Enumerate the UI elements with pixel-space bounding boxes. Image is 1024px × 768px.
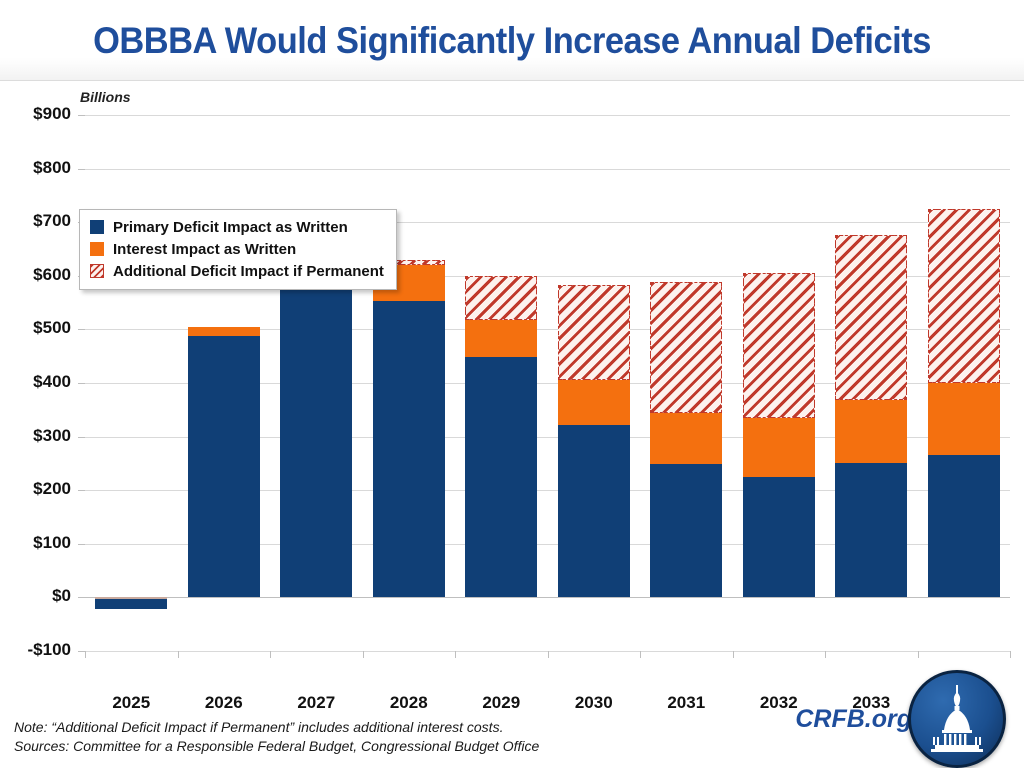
y-axis-tick-label: $400 — [9, 372, 71, 392]
square-swatch-icon — [90, 242, 104, 256]
bar-segment-interest — [650, 413, 722, 464]
x-axis-label-2025: 2025 — [81, 693, 181, 713]
x-axis-tick — [548, 651, 549, 658]
chart-container: Billions $900$800$700$600$500$400$300$20… — [0, 80, 1024, 660]
legend-item-permanent: Additional Deficit Impact if Permanent — [90, 260, 384, 282]
y-axis-tick-label: $800 — [9, 158, 71, 178]
y-axis-tick — [78, 383, 85, 384]
y-axis-tick — [78, 329, 85, 330]
square-swatch-icon — [90, 220, 104, 234]
bar-segment-primary — [465, 357, 537, 597]
bar-segment-primary — [743, 477, 815, 597]
y-axis-tick-label: $200 — [9, 479, 71, 499]
x-axis-tick — [1010, 651, 1011, 658]
legend-label-primary: Primary Deficit Impact as Written — [113, 219, 348, 236]
bar-segment-primary — [558, 425, 630, 598]
bar-segment-permanent — [650, 282, 722, 413]
y-axis-tick-label: -$100 — [9, 640, 71, 660]
bar-segment-interest — [928, 383, 1000, 455]
bar-segment-interest — [835, 400, 907, 463]
y-axis-tick-label: $900 — [9, 104, 71, 124]
bar-2029[interactable] — [465, 115, 537, 651]
capitol-dome-logo-icon — [908, 670, 1006, 768]
y-axis-tick — [78, 651, 85, 652]
legend-label-interest: Interest Impact as Written — [113, 241, 296, 258]
y-axis-tick-label: $700 — [9, 211, 71, 231]
bar-segment-permanent — [835, 235, 907, 400]
bar-segment-permanent — [743, 273, 815, 419]
x-axis-tick — [455, 651, 456, 658]
bar-segment-interest — [188, 327, 260, 337]
hatched-swatch-icon — [90, 264, 104, 278]
plot-area: $900$800$700$600$500$400$300$200$100$0-$… — [85, 115, 1010, 651]
x-axis-tick — [178, 651, 179, 658]
bar-2030[interactable] — [558, 115, 630, 651]
x-axis-tick — [270, 651, 271, 658]
bar-2033[interactable] — [835, 115, 907, 651]
footer-notes: Note: “Additional Deficit Impact if Perm… — [14, 718, 539, 756]
y-axis-tick-label: $600 — [9, 265, 71, 285]
bar-2028[interactable] — [373, 115, 445, 651]
bar-segment-primary — [95, 597, 167, 608]
x-axis-label-2027: 2027 — [266, 693, 366, 713]
bar-2025[interactable] — [95, 115, 167, 651]
brand-wordmark: CRFB.org — [782, 705, 912, 734]
legend-item-interest: Interest Impact as Written — [90, 238, 384, 260]
x-axis-label-2029: 2029 — [451, 693, 551, 713]
legend-label-permanent: Additional Deficit Impact if Permanent — [113, 263, 384, 280]
footnote-sources: Sources: Committee for a Responsible Fed… — [14, 737, 539, 756]
bar-2027[interactable] — [280, 115, 352, 651]
y-axis-tick — [78, 437, 85, 438]
title-banner: OBBBA Would Significantly Increase Annua… — [0, 0, 1024, 81]
y-axis-tick — [78, 115, 85, 116]
y-axis-tick — [78, 490, 85, 491]
bar-segment-interest — [743, 418, 815, 477]
y-axis-tick — [78, 544, 85, 545]
x-axis-tick — [85, 651, 86, 658]
y-axis-units-label: Billions — [80, 89, 131, 105]
x-axis-tick — [640, 651, 641, 658]
page-title: OBBBA Would Significantly Increase Annua… — [36, 20, 988, 62]
bar-segment-interest — [465, 320, 537, 358]
bar-segment-primary — [280, 277, 352, 598]
x-axis-tick — [363, 651, 364, 658]
bar-segment-primary — [835, 463, 907, 597]
bar-segment-primary — [188, 336, 260, 597]
x-axis-tick — [733, 651, 734, 658]
bar-2026[interactable] — [188, 115, 260, 651]
y-axis-tick-label: $300 — [9, 426, 71, 446]
bar-2032[interactable] — [743, 115, 815, 651]
bar-segment-permanent — [465, 276, 537, 320]
bar-segment-interest — [558, 380, 630, 425]
bar-2034[interactable] — [928, 115, 1000, 651]
x-axis-label-2026: 2026 — [174, 693, 274, 713]
bar-segment-primary — [650, 464, 722, 597]
x-axis-tick — [825, 651, 826, 658]
x-axis-label-2030: 2030 — [544, 693, 644, 713]
x-axis-label-2028: 2028 — [359, 693, 459, 713]
y-axis-tick-label: $0 — [9, 586, 71, 606]
x-axis-tick — [918, 651, 919, 658]
bar-segment-primary — [373, 301, 445, 597]
bar-segment-primary — [928, 455, 1000, 598]
legend-item-primary: Primary Deficit Impact as Written — [90, 216, 384, 238]
y-axis-tick-label: $100 — [9, 533, 71, 553]
footnote-note: Note: “Additional Deficit Impact if Perm… — [14, 718, 539, 737]
x-axis-label-2031: 2031 — [636, 693, 736, 713]
chart-legend: Primary Deficit Impact as Written Intere… — [79, 209, 397, 290]
y-axis-tick — [78, 169, 85, 170]
bar-segment-permanent — [928, 209, 1000, 383]
bar-segment-permanent — [558, 285, 630, 380]
brand-block: CRFB.org — [782, 668, 1012, 764]
bar-2031[interactable] — [650, 115, 722, 651]
y-axis-tick-label: $500 — [9, 318, 71, 338]
y-axis-tick — [78, 597, 85, 598]
